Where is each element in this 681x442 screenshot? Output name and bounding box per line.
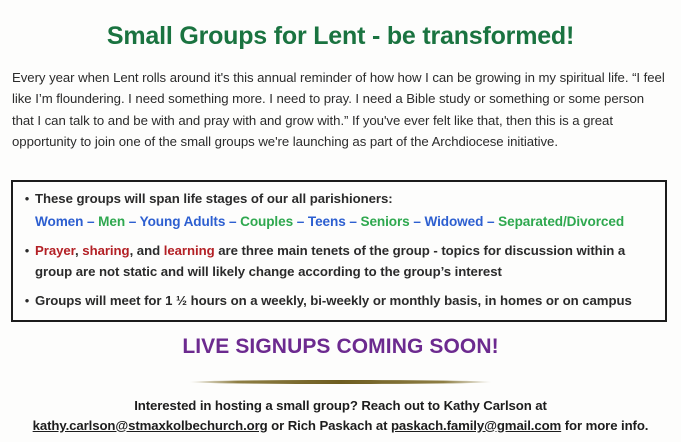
tenet-prayer: Prayer	[35, 243, 75, 258]
footer-contact: Interested in hosting a small group? Rea…	[0, 396, 681, 436]
bullet-marker-icon: •	[19, 241, 35, 261]
life-stages-list: Women – Men – Young Adults – Couples – T…	[35, 212, 655, 233]
email-link-kathy[interactable]: kathy.carlson@stmaxkolbechurch.org	[33, 418, 268, 433]
intro-paragraph: Every year when Lent rolls around it's t…	[12, 67, 669, 153]
bullet-item-life-stages: • These groups will span life stages of …	[19, 189, 655, 233]
details-box: • These groups will span life stages of …	[11, 180, 667, 322]
life-stage-separator: –	[483, 214, 498, 229]
life-stage-widowed: Widowed	[424, 214, 483, 229]
flyer-page: Small Groups for Lent - be transformed! …	[0, 17, 681, 442]
life-stage-separated-divorced: Separated/Divorced	[498, 214, 624, 229]
tenets-rest: are three main tenets of the group - top…	[215, 243, 626, 258]
live-signups-banner: LIVE SIGNUPS COMING SOON!	[0, 335, 681, 359]
life-stage-couples: Couples	[240, 214, 293, 229]
bullet-marker-icon: •	[19, 291, 35, 311]
bullet-item-meeting-schedule: • Groups will meet for 1 ½ hours on a we…	[19, 291, 655, 311]
life-stage-women: Women	[35, 214, 83, 229]
life-stage-separator: –	[225, 214, 240, 229]
gold-divider	[189, 380, 492, 384]
footer-line-1: Interested in hosting a small group? Rea…	[0, 396, 681, 416]
bullet-tenets-content: Prayer, sharing, and learning are three …	[35, 241, 655, 281]
bullet-item-tenets: • Prayer, sharing, and learning are thre…	[19, 241, 655, 281]
tenets-line-2: group are not static and will likely cha…	[35, 262, 655, 282]
life-stage-teens: Teens	[308, 214, 346, 229]
bullet-marker-icon: •	[19, 189, 35, 209]
bullet-life-stages-content: These groups will span life stages of ou…	[35, 189, 655, 233]
tenet-separator-2: , and	[130, 243, 164, 258]
life-stage-young-adults: Young Adults	[140, 214, 226, 229]
life-stages-lead: These groups will span life stages of ou…	[35, 191, 393, 206]
life-stage-separator: –	[83, 214, 98, 229]
footer-line-2: kathy.carlson@stmaxkolbechurch.org or Ri…	[0, 416, 681, 436]
meeting-schedule-text: Groups will meet for 1 ½ hours on a week…	[35, 291, 655, 311]
tenet-learning: learning	[164, 243, 215, 258]
life-stage-separator: –	[125, 214, 140, 229]
life-stage-seniors: Seniors	[360, 214, 409, 229]
life-stage-separator: –	[410, 214, 425, 229]
life-stage-men: Men	[98, 214, 125, 229]
tenet-sharing: sharing	[82, 243, 129, 258]
email-link-rich[interactable]: paskach.family@gmail.com	[391, 418, 561, 433]
footer-mid-text: or Rich Paskach at	[268, 418, 391, 433]
life-stage-separator: –	[293, 214, 308, 229]
footer-tail-text: for more info.	[561, 418, 648, 433]
page-title: Small Groups for Lent - be transformed!	[0, 17, 681, 51]
life-stage-separator: –	[346, 214, 361, 229]
